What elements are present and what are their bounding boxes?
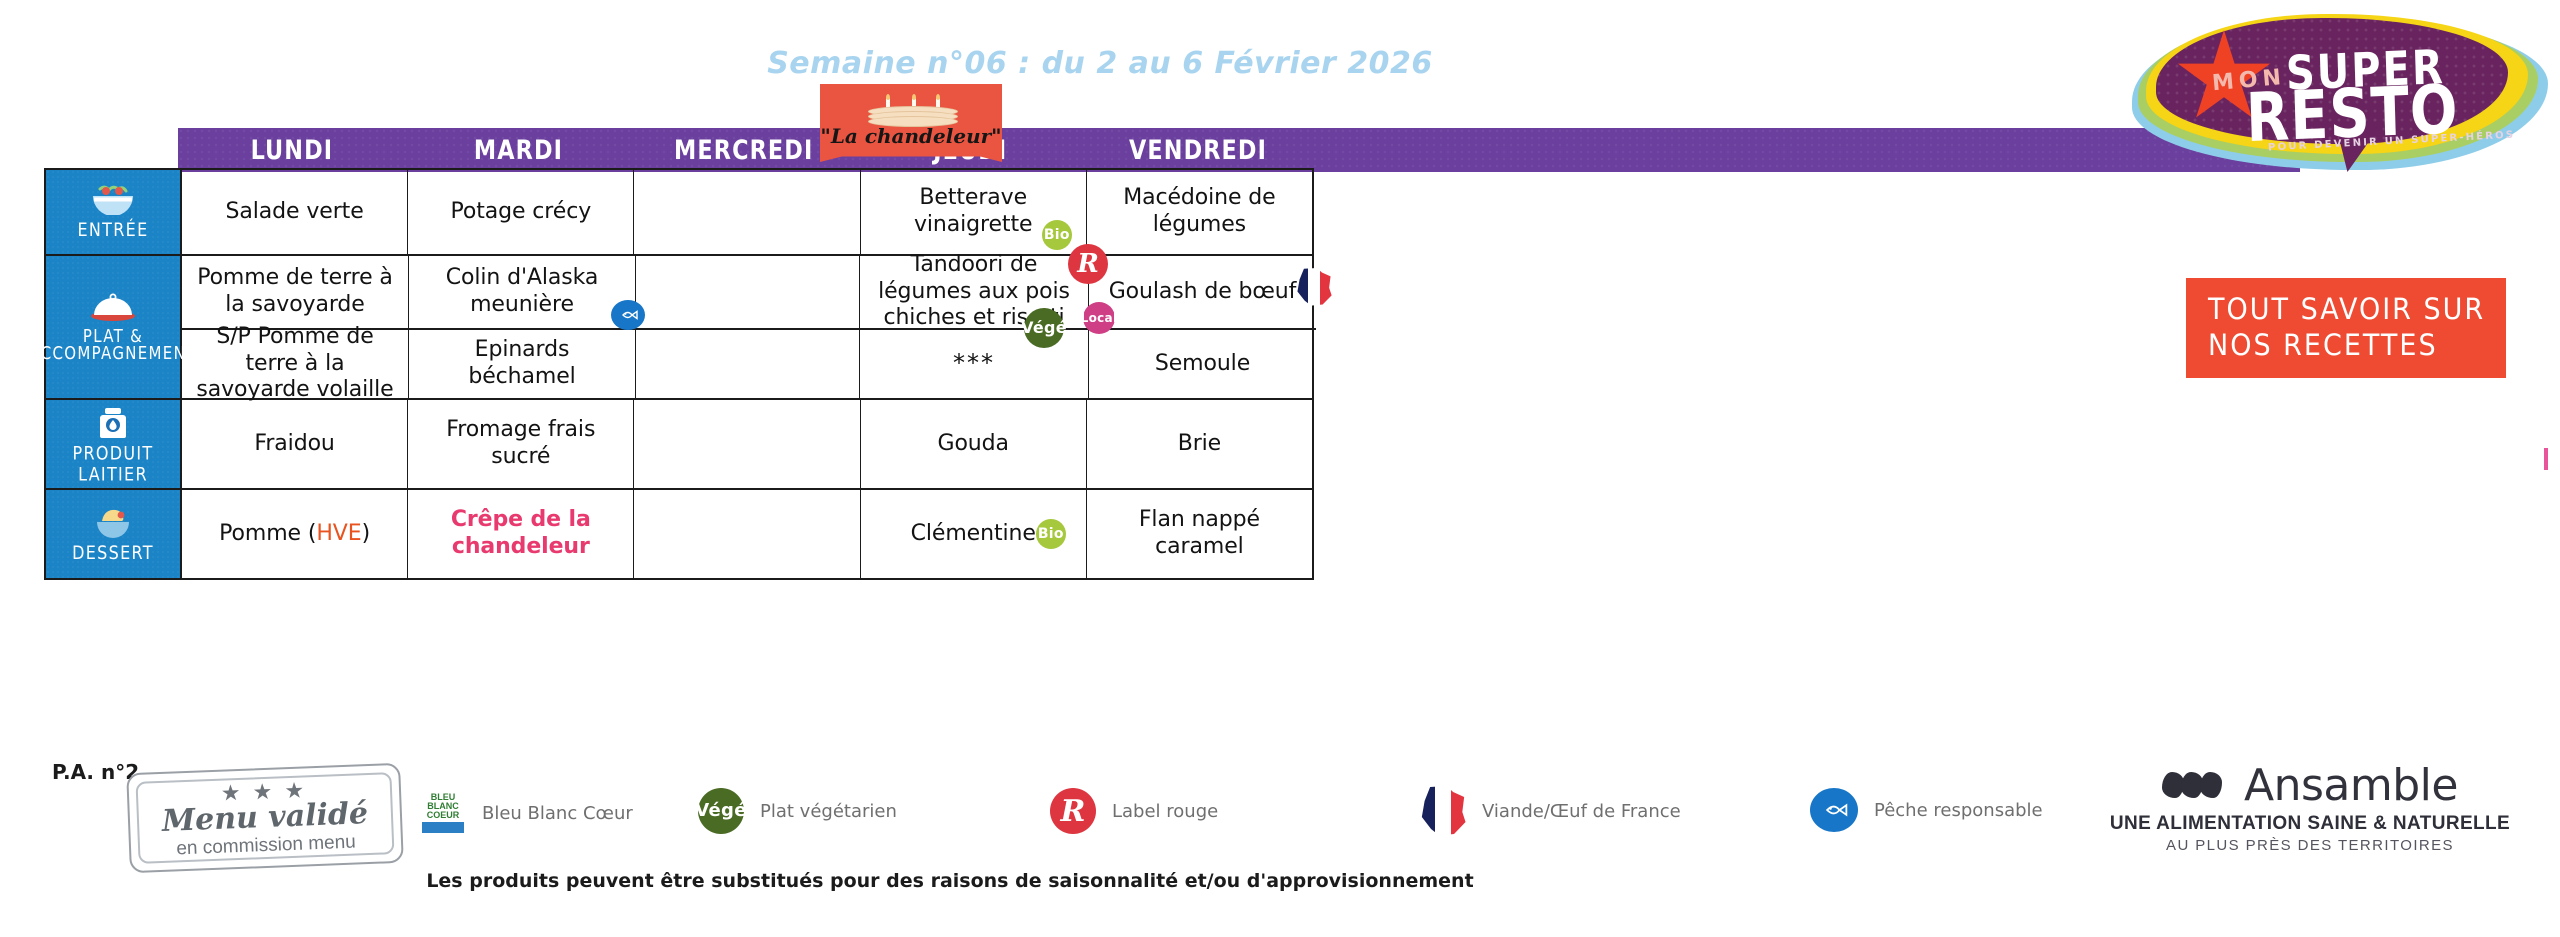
cell-accomp-vendredi: Semoule <box>1089 330 1316 398</box>
day-header-mercredi: MERCREDI <box>632 128 856 172</box>
substitution-disclaimer: Les produits peuvent être substitués pou… <box>0 870 1900 892</box>
bbc-blue-bar <box>422 822 464 833</box>
dish-text: Crêpe de la chandeleur <box>418 507 623 561</box>
stacked-crepes-icon <box>868 96 956 122</box>
ansamble-brand: Ansamble <box>2100 760 2520 811</box>
dish-text: S/P Pomme de terre à la savoyarde volail… <box>192 324 398 404</box>
badge-label: Bio <box>1044 228 1070 242</box>
table-row-entree: ENTRÉE Salade verte Potage crécy Bettera… <box>46 170 1312 256</box>
badge-label: Local <box>1081 312 1118 324</box>
dish-text: Semoule <box>1155 351 1250 378</box>
day-label: LUNDI <box>250 135 333 166</box>
table-subrow-accompagnement: S/P Pomme de terre à la savoyarde volail… <box>182 330 1316 398</box>
cell-accomp-jeudi: *** <box>860 330 1089 398</box>
bleu-blanc-coeur-icon: BLEU BLANC COEUR <box>420 790 466 836</box>
cell-plat-mercredi <box>636 256 860 328</box>
legend-label: Label rouge <box>1112 801 1218 822</box>
dish-text: Clémentine <box>911 521 1036 548</box>
milk-can-icon <box>96 406 130 440</box>
cell-dessert-lundi: Pomme (HVE) <box>182 490 408 578</box>
ansamble-name: Ansamble <box>2244 760 2458 811</box>
cell-entree-vendredi: Macédoine de légumes <box>1087 170 1312 254</box>
legend-item-peche-responsable: Pêche responsable <box>1810 788 2043 832</box>
recipes-cta-button[interactable]: TOUT SAVOIR SUR NOS RECETTES <box>2186 278 2506 378</box>
bio-badge-icon: Bio <box>1036 519 1066 549</box>
ansamble-tagline2: AU PLUS PRÈS DES TERRITOIRES <box>2100 837 2520 854</box>
cell-laitier-vendredi: Brie <box>1087 400 1312 488</box>
day-header-jeudi: JEUDI <box>856 128 1085 172</box>
badge-label: R <box>1061 794 1086 829</box>
cell-plat-vendredi: Goulash de bœuf Local <box>1089 256 1316 328</box>
dish-text-part: Pomme ( <box>219 521 316 546</box>
dish-text: Flan nappé caramel <box>1097 507 1302 561</box>
dish-text: Brie <box>1178 431 1221 458</box>
dish-text: Pomme (HVE) <box>219 521 370 548</box>
legend-label: Plat végétarien <box>760 801 897 822</box>
legend-row: BLEU BLANC COEUR Bleu Blanc Cœur Végé Pl… <box>420 772 2160 852</box>
day-label: MERCREDI <box>674 135 813 166</box>
legend-item-viande-france: Viande/Œuf de France <box>1420 786 1681 836</box>
cloche-icon <box>88 292 138 322</box>
dish-text-part: ) <box>362 521 370 546</box>
category-label-line2: ACCOMPAGNEMENT <box>29 343 196 363</box>
dish-text: Goulash de bœuf <box>1109 279 1297 306</box>
dish-text: *** <box>953 349 995 378</box>
badge-label: Végé <box>695 802 746 820</box>
legend-item-vege: Végé Plat végétarien <box>698 788 897 834</box>
category-dessert: DESSERT <box>46 490 182 578</box>
legend-item-bleu-blanc-coeur: BLEU BLANC COEUR Bleu Blanc Cœur <box>420 790 633 836</box>
ansamble-tagline1: UNE ALIMENTATION SAINE & NATURELLE <box>2100 813 2520 835</box>
bbc-line3: COEUR <box>427 811 460 820</box>
cell-laitier-jeudi: Gouda <box>861 400 1087 488</box>
pa-reference: P.A. n°2 <box>52 760 139 784</box>
day-header-mardi: MARDI <box>405 128 632 172</box>
cell-dessert-vendredi: Flan nappé caramel <box>1087 490 1312 578</box>
legend-label: Pêche responsable <box>1874 800 2043 821</box>
table-row-produit-laitier: PRODUIT LAITIER Fraidou Fromage frais su… <box>46 400 1312 490</box>
table-row-dessert: DESSERT Pomme (HVE) Crêpe de la chandele… <box>46 490 1312 578</box>
vege-badge-icon: Végé <box>698 788 744 834</box>
menu-poster: Semaine n°06 : du 2 au 6 Février 2026 LU… <box>0 0 2560 937</box>
plat-accompagnement-group: Pomme de terre à la savoyarde Colin d'Al… <box>182 256 1316 398</box>
cell-laitier-mardi: Fromage frais sucré <box>408 400 634 488</box>
day-label: JEUDI <box>933 135 1007 166</box>
dish-text: Macédoine de légumes <box>1097 185 1302 239</box>
legend-item-label-rouge: R Label rouge <box>1050 788 1218 834</box>
day-label: VENDREDI <box>1129 135 1267 166</box>
day-label: MARDI <box>474 135 563 166</box>
cell-accomp-mardi: Epinards béchamel <box>409 330 636 398</box>
french-flag-icon <box>1420 786 1466 836</box>
cell-plat-jeudi: Tandoori de légumes aux pois chiches et … <box>860 256 1089 328</box>
cell-entree-mardi: Potage crécy <box>408 170 634 254</box>
legend-label: Viande/Œuf de France <box>1482 801 1681 822</box>
category-label: DESSERT <box>72 542 154 563</box>
dish-text: Epinards béchamel <box>419 337 625 391</box>
category-label: ENTRÉE <box>78 219 149 240</box>
category-label: PRODUIT LAITIER <box>48 443 178 485</box>
dish-text: Salade verte <box>226 199 364 226</box>
cell-accomp-mercredi <box>636 330 860 398</box>
recipes-cta-line1: TOUT SAVOIR SUR <box>2208 291 2506 330</box>
day-header-lundi: LUNDI <box>178 128 405 172</box>
fish-glyph <box>1817 799 1851 821</box>
cell-laitier-lundi: Fraidou <box>182 400 408 488</box>
week-title: Semaine n°06 : du 2 au 6 Février 2026 <box>0 46 2200 81</box>
hve-tag: HVE <box>316 521 361 546</box>
legend-label: Bleu Blanc Cœur <box>482 803 633 824</box>
dish-text: Pomme de terre à la savoyarde <box>192 265 398 319</box>
ansamble-mark-icon <box>2162 768 2234 804</box>
bio-badge-icon: Bio <box>1042 220 1072 250</box>
cell-dessert-mardi: Crêpe de la chandeleur <box>408 490 634 578</box>
cell-accomp-lundi: S/P Pomme de terre à la savoyarde volail… <box>182 330 409 398</box>
category-produit-laitier: PRODUIT LAITIER <box>46 400 182 488</box>
category-plat: PLAT & ACCOMPAGNEMENT <box>46 256 182 398</box>
cell-entree-lundi: Salade verte <box>182 170 408 254</box>
cell-entree-mercredi <box>634 170 860 254</box>
table-subrow-plat: Pomme de terre à la savoyarde Colin d'Al… <box>182 256 1316 330</box>
category-entree: ENTRÉE <box>46 170 182 254</box>
dish-text: Potage crécy <box>450 199 591 226</box>
dish-text: Gouda <box>938 431 1009 458</box>
page-edge-mark <box>2544 448 2548 470</box>
ansamble-logo: Ansamble UNE ALIMENTATION SAINE & NATURE… <box>2100 760 2520 854</box>
badge-label: Bio <box>1038 527 1064 541</box>
cell-dessert-jeudi: Clémentine Bio <box>861 490 1087 578</box>
dish-text: Fraidou <box>254 431 334 458</box>
cell-plat-lundi: Pomme de terre à la savoyarde <box>182 256 409 328</box>
dish-text: Colin d'Alaska meunière <box>419 265 625 319</box>
dessert-cup-icon <box>92 506 134 538</box>
cell-laitier-mercredi <box>634 400 860 488</box>
menu-validated-stamp: ★ ★ ★ Menu validé en commission menu <box>126 763 404 873</box>
cell-dessert-mercredi <box>634 490 860 578</box>
fish-icon <box>1810 788 1858 832</box>
table-row-plat: PLAT & ACCOMPAGNEMENT Pomme de terre à l… <box>46 256 1312 400</box>
label-rouge-icon: R <box>1050 788 1096 834</box>
day-header-vendredi: VENDREDI <box>1085 128 1312 172</box>
recipes-cta-line2: NOS RECETTES <box>2208 326 2506 365</box>
dish-text: Fromage frais sucré <box>418 417 623 471</box>
cell-plat-mardi: Colin d'Alaska meunière <box>409 256 636 328</box>
salad-bowl-icon <box>90 185 136 215</box>
day-header-band: LUNDI MARDI MERCREDI JEUDI VENDREDI <box>178 128 2300 172</box>
cell-entree-jeudi: Betterave vinaigrette Bio <box>861 170 1087 254</box>
menu-table: ENTRÉE Salade verte Potage crécy Bettera… <box>44 168 1314 580</box>
mon-super-resto-logo: MON SUPER RESTO POUR DEVENIR UN SUPER-HÉ… <box>2128 8 2552 176</box>
french-flag-icon <box>1296 268 1332 306</box>
